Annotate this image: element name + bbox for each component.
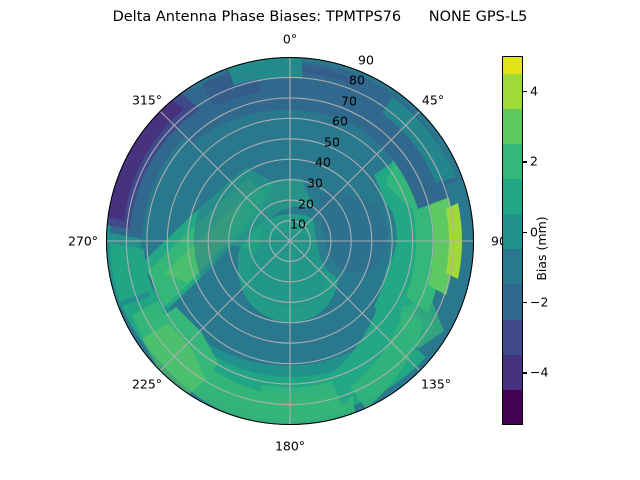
colorbar-band [502,109,523,144]
polar-data-area [106,57,474,425]
colorbar-band [502,320,523,355]
colorbar-band [502,249,523,284]
colorbar-band [502,355,523,390]
colorbar-tick-label: 2 [530,154,538,169]
colorbar-band [502,56,523,74]
colorbar-tick-label: 4 [530,84,538,99]
colorbar[interactable]: 420−2−4 [502,56,523,425]
colorbar-tick-label: −4 [530,365,548,380]
colorbar-band [502,284,523,319]
contour-field [106,57,474,425]
colorbar-tick-mark [523,161,527,162]
radial-tick-50: 50 [324,135,340,150]
colorbar-tick-mark [523,372,527,373]
radial-tick-10: 10 [290,217,306,232]
colorbar-band [502,390,523,425]
colorbar-band [502,179,523,214]
angular-tick-0: 0° [283,32,297,47]
radial-tick-20: 20 [298,197,314,212]
colorbar-band [502,74,523,109]
angular-tick-315: 315° [132,93,162,108]
radial-tick-60: 60 [332,114,348,129]
colorbar-tick-mark [523,302,527,303]
radial-tick-90: 90 [358,53,374,68]
radial-tick-70: 70 [341,94,357,109]
colorbar-tick-mark [523,91,527,92]
radial-tick-80: 80 [349,73,365,88]
radial-tick-30: 30 [307,176,323,191]
figure-canvas: Delta Antenna Phase Biases: TPMTPS76 NON… [0,0,640,480]
colorbar-tick-mark [523,232,527,233]
angular-tick-135: 135° [421,377,451,392]
colorbar-band [502,144,523,179]
radial-tick-40: 40 [315,155,331,170]
angular-tick-225: 225° [132,377,162,392]
angular-tick-45: 45° [422,93,444,108]
angular-tick-180: 180° [275,439,305,454]
colorbar-tick-label: −2 [530,295,548,310]
colorbar-band [502,214,523,249]
colorbar-label: Bias (mm) [534,216,549,280]
page-title: Delta Antenna Phase Biases: TPMTPS76 NON… [0,9,640,25]
polar-plot[interactable]: 10 20 30 40 50 60 70 80 90 0° 45° 90 135… [106,57,474,425]
angular-tick-270: 270° [68,234,98,249]
